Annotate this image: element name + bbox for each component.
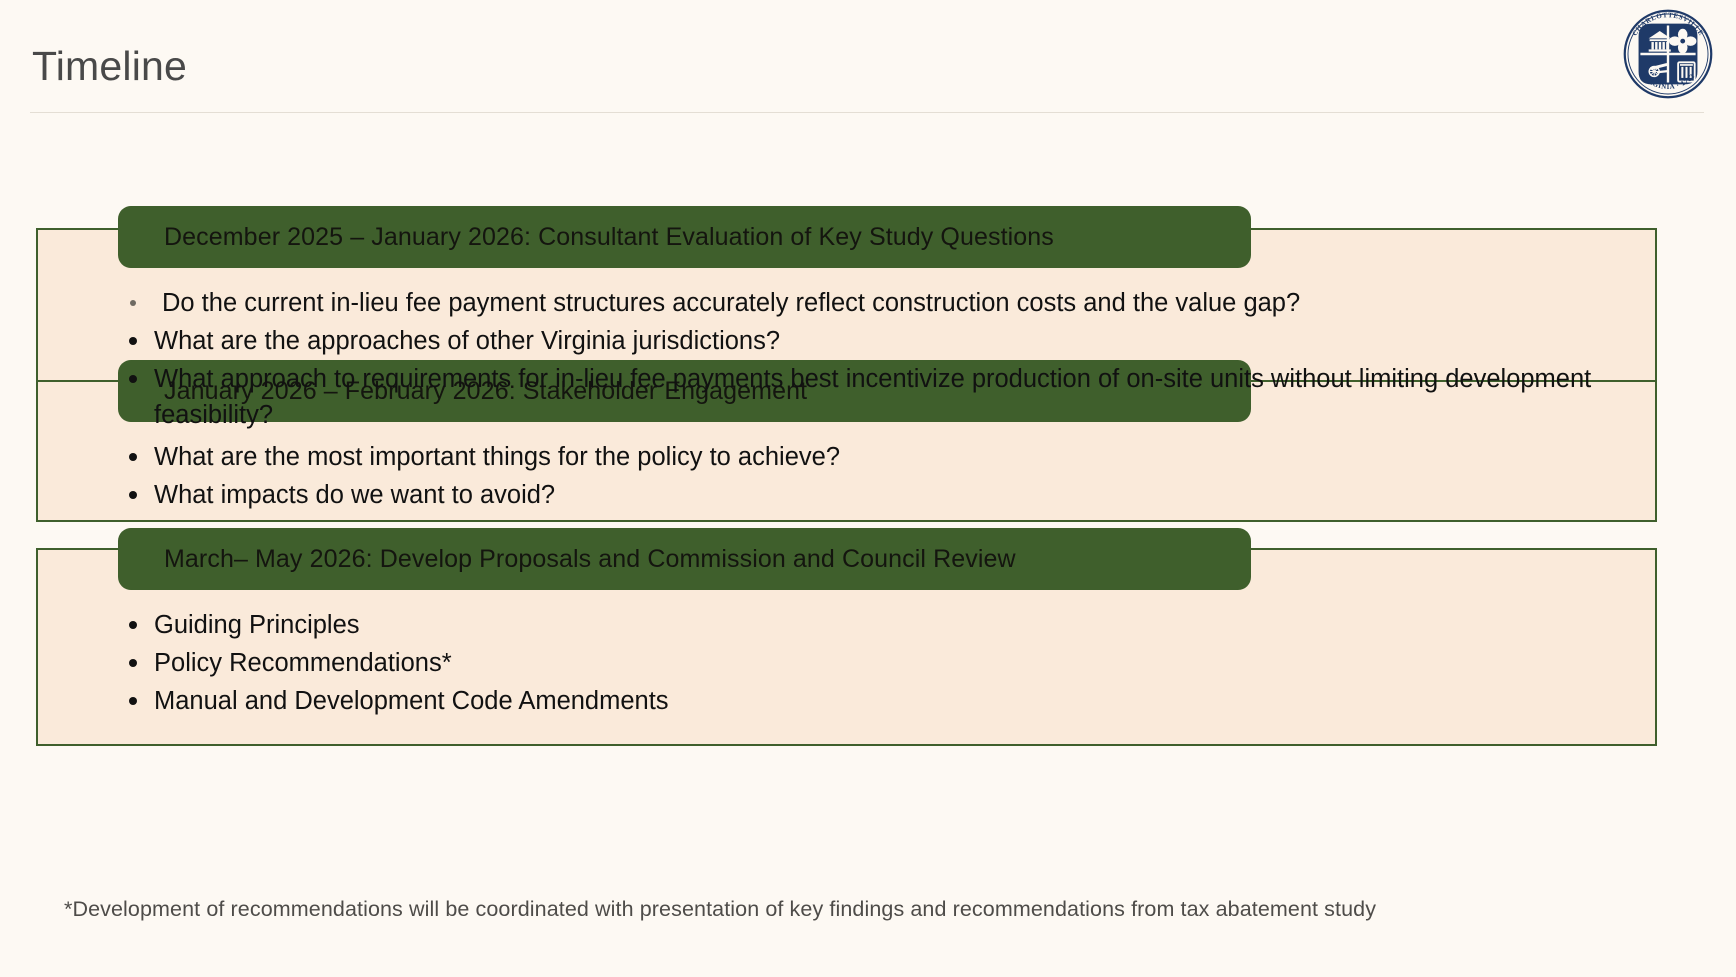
section-2-list: What are the most important things for t… [120,439,1696,513]
list-item-text: Do the current in-lieu fee payment struc… [162,289,1300,317]
bullet-dot-icon [129,697,137,705]
section-3-header-label: March– May 2026: Develop Proposals and C… [118,545,1016,574]
list-item-text: Policy Recommendations* [154,649,452,677]
section-3-header[interactable]: March– May 2026: Develop Proposals and C… [118,528,1251,590]
list-item: Guiding Principles [120,607,1696,643]
bullet-dot-icon [129,375,137,383]
list-item-text: Guiding Principles [154,611,360,639]
bullet-dot-icon [129,491,137,499]
slide-header: Timeline [0,0,1736,118]
bullet-dot-icon [129,621,137,629]
list-item-text: What impacts do we want to avoid? [154,481,555,509]
bullet-dot-icon [129,659,137,667]
section-1-header[interactable]: December 2025 – January 2026: Consultant… [118,206,1251,268]
timeline: December 2025 – January 2026: Consultant… [0,118,1736,746]
list-item: What impacts do we want to avoid? [120,477,1696,513]
footnote: *Development of recommendations will be … [64,894,1376,924]
timeline-section-1: December 2025 – January 2026: Consultant… [0,118,1736,358]
list-item: Policy Recommendations* [120,645,1696,681]
section-1-list: Do the current in-lieu fee payment struc… [120,285,1696,433]
list-item-text: Manual and Development Code Amendments [154,687,669,715]
header-divider [30,112,1704,113]
bullet-dot-icon [130,300,136,306]
bullet-dot-icon [129,337,137,345]
list-item: Manual and Development Code Amendments [120,683,1696,719]
page-title: Timeline [32,46,187,87]
list-item: What approach to requirements for in-lie… [120,361,1696,433]
bullet-dot-icon [129,453,137,461]
list-item: Do the current in-lieu fee payment struc… [120,285,1696,321]
timeline-section-3: March– May 2026: Develop Proposals and C… [0,526,1736,746]
city-seal-icon: CHARLOTTESVILLE VIRGINIA · 1762 [1622,8,1714,100]
list-item-text: What are the most important things for t… [154,443,840,471]
list-item-text: What approach to requirements for in-lie… [154,365,1591,429]
section-1-header-label: December 2025 – January 2026: Consultant… [118,223,1054,252]
list-item-text: What are the approaches of other Virgini… [154,327,780,355]
list-item: What are the most important things for t… [120,439,1696,475]
list-item: What are the approaches of other Virgini… [120,323,1696,359]
section-3-list: Guiding Principles Policy Recommendation… [120,607,1696,719]
